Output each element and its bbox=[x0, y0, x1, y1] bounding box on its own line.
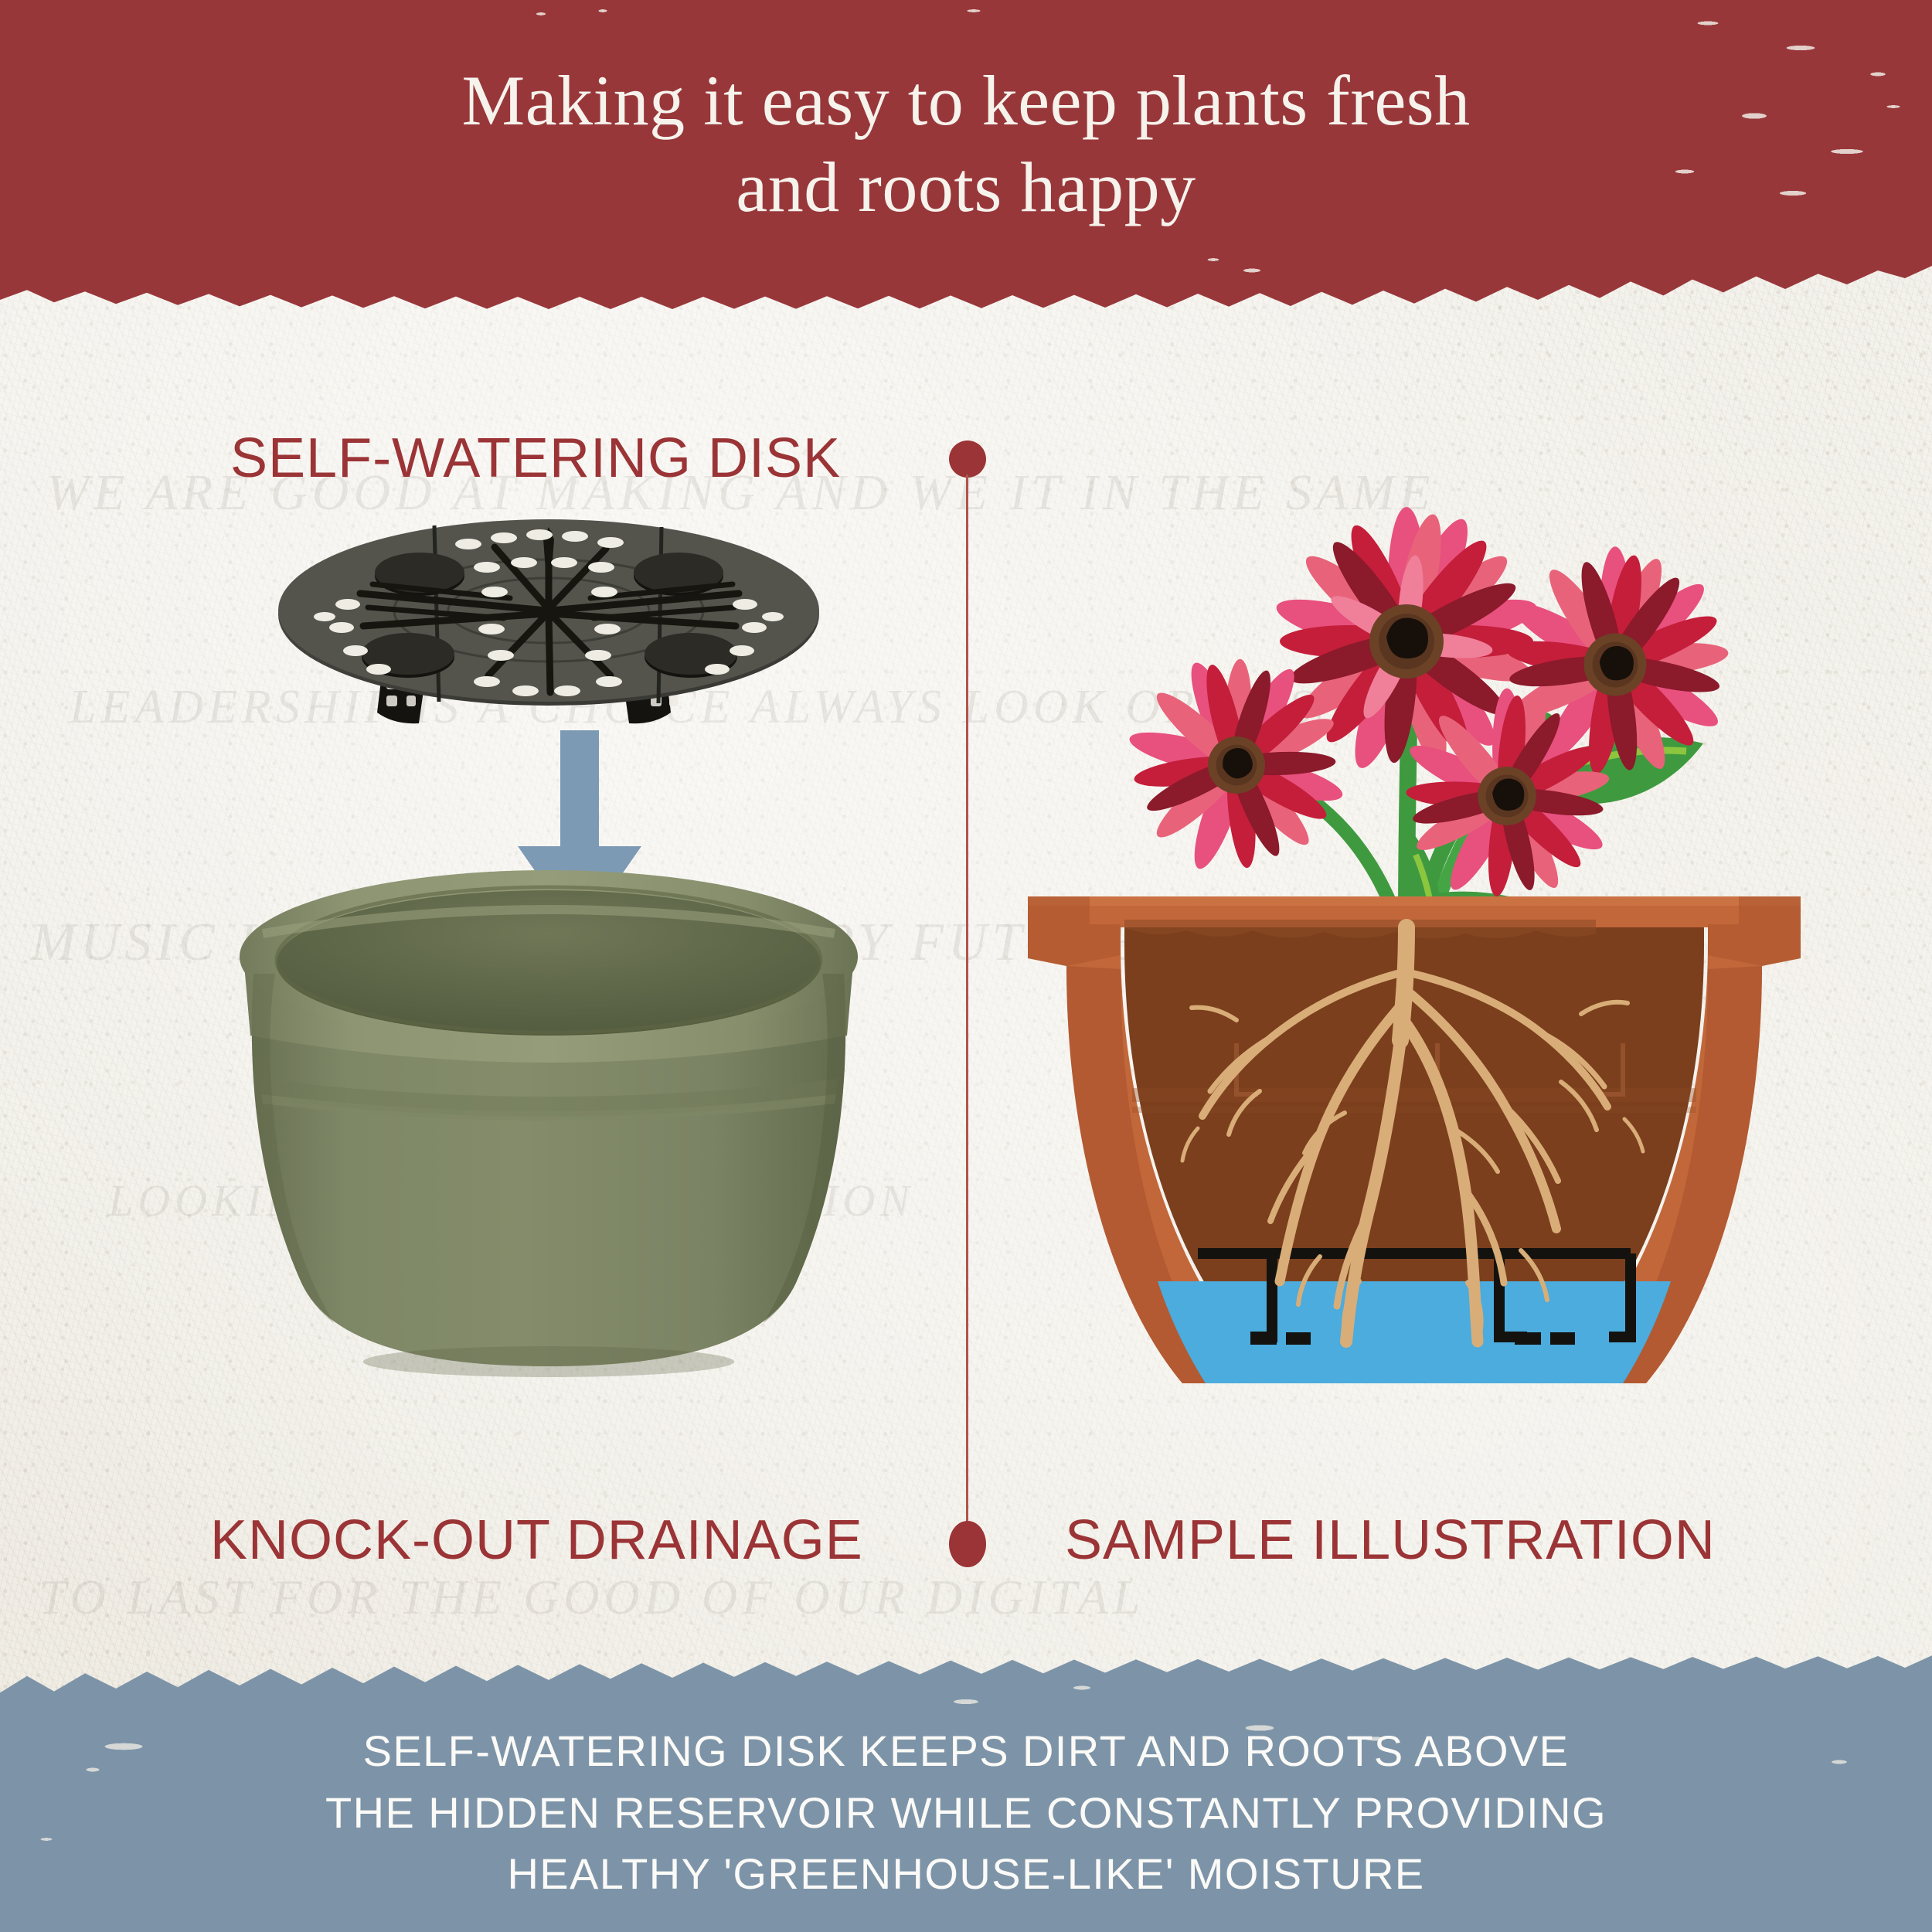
label-sample-illustration: SAMPLE ILLUSTRATION bbox=[1065, 1509, 1716, 1572]
green-planter-figure bbox=[178, 866, 920, 1476]
cutaway-planter bbox=[1028, 896, 1801, 1383]
footer-banner: SELF-WATERING DISK KEEPS DIRT AND ROOTS … bbox=[0, 1654, 1932, 1932]
header-banner: Making it easy to keep plants fresh and … bbox=[0, 0, 1932, 309]
page-title: Making it easy to keep plants fresh and … bbox=[0, 57, 1932, 230]
footer-caption-line-3: HEALTHY 'GREENHOUSE-LIKE' MOISTURE bbox=[0, 1843, 1932, 1905]
page-title-line-1: Making it easy to keep plants fresh bbox=[0, 57, 1932, 144]
label-self-watering-disk: SELF-WATERING DISK bbox=[230, 427, 841, 490]
vertical-divider-line bbox=[966, 474, 968, 1526]
infographic-canvas: WE ARE GOOD AT MAKING AND WE IT IN THE S… bbox=[0, 0, 1932, 1932]
water-reservoir bbox=[1158, 1281, 1671, 1383]
self-watering-disk-figure bbox=[232, 510, 866, 765]
label-knock-out-drainage: KNOCK-OUT DRAINAGE bbox=[210, 1509, 863, 1572]
footer-caption-line-2: THE HIDDEN RESERVOIR WHILE CONSTANTLY PR… bbox=[0, 1782, 1932, 1844]
footer-caption: SELF-WATERING DISK KEEPS DIRT AND ROOTS … bbox=[0, 1720, 1932, 1905]
connector-dot-top bbox=[949, 440, 986, 478]
soil-fill bbox=[1124, 927, 1704, 1321]
footer-caption-line-1: SELF-WATERING DISK KEEPS DIRT AND ROOTS … bbox=[0, 1720, 1932, 1782]
connector-dot-bottom bbox=[949, 1521, 986, 1567]
page-title-line-2: and roots happy bbox=[0, 144, 1932, 230]
cutaway-illustration-figure bbox=[1005, 433, 1824, 1476]
